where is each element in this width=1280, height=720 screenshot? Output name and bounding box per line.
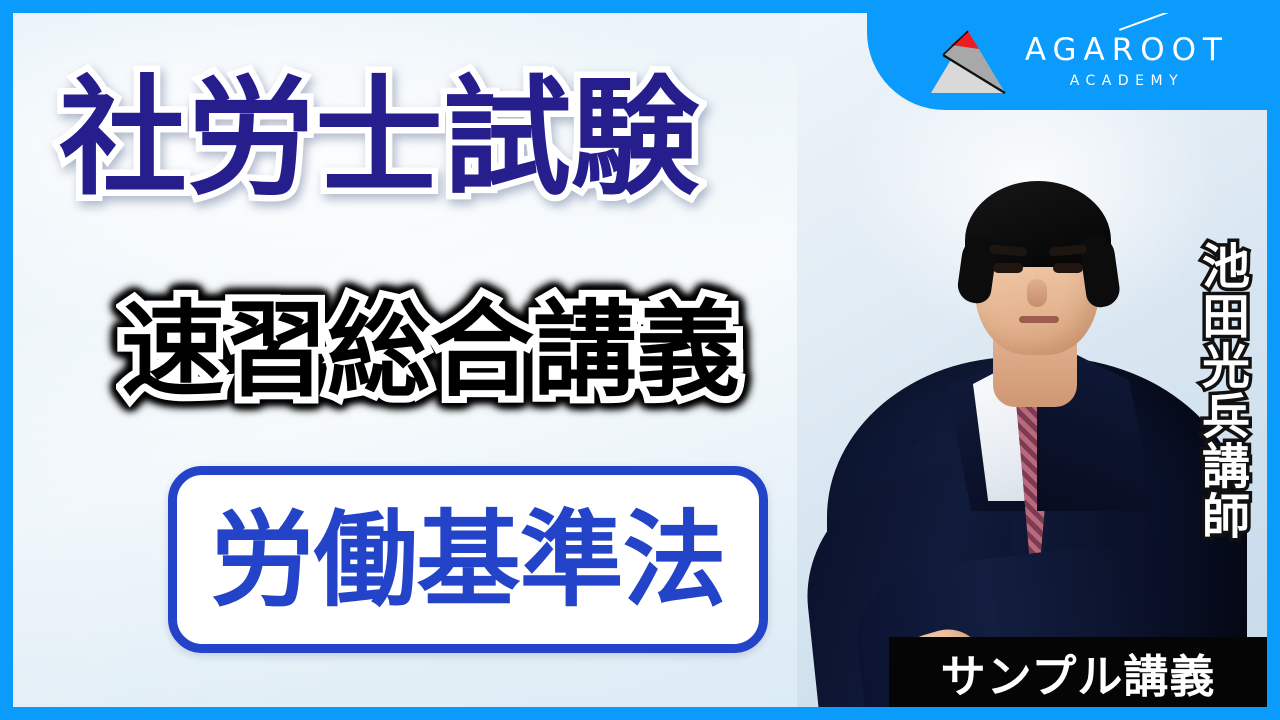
triangle-logo-icon [929,29,1007,95]
sample-lecture-label: サンプル講義 [941,640,1216,705]
figure-eye-right [1053,263,1083,273]
page-subtitle: 速習総合講義 [121,298,739,402]
sample-lecture-badge: サンプル講義 [889,637,1267,707]
logo-sub-text: ACADEMY [1070,73,1184,89]
figure-mouth [1019,316,1059,323]
topic-box: 労働基準法 [168,466,768,653]
content-area: AGAROOT ACADEMY 社労士試験 速習総合講義 労働基準法 池田光兵講… [13,13,1267,707]
page-title: 社労士試験 [59,75,699,203]
agaroot-logo: AGAROOT ACADEMY [929,29,1231,95]
logo-main-text: AGAROOT [1023,35,1231,66]
logo-wordmark: AGAROOT ACADEMY [1023,35,1231,89]
topic-label: 労働基準法 [210,508,725,612]
figure-nose [1027,279,1047,307]
instructor-name-vertical: 池田光兵講師 [1195,241,1245,541]
thumbnail-canvas: AGAROOT ACADEMY 社労士試験 速習総合講義 労働基準法 池田光兵講… [0,0,1280,720]
figure-eye-left [993,263,1023,273]
